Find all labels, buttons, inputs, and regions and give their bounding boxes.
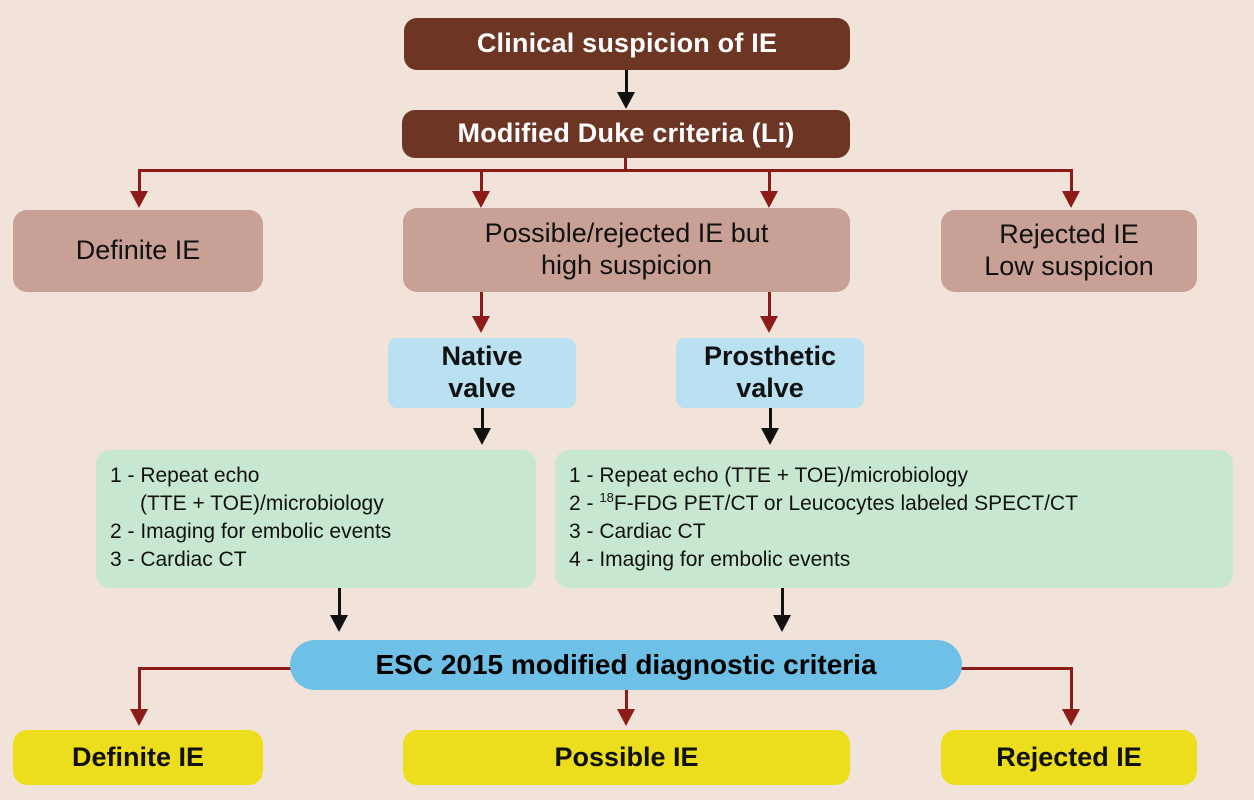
native-workup-line-2-text: (TTE + TOE)/microbiology bbox=[140, 492, 384, 515]
prosthetic-workup-line-2-text: F-FDG PET/CT or Leucocytes labeled SPECT… bbox=[614, 492, 1078, 515]
node-rejected-ie-bottom[interactable]: Rejected IE bbox=[941, 730, 1197, 785]
connector-esc-to-definite-h bbox=[138, 667, 292, 670]
node-definite-ie-bottom[interactable]: Definite IE bbox=[13, 730, 263, 785]
arrowhead-duke-to-possible bbox=[472, 191, 490, 208]
node-clinical-suspicion-label: Clinical suspicion of IE bbox=[477, 28, 777, 60]
node-definite-ie-bottom-label: Definite IE bbox=[72, 742, 204, 774]
connector-possible-to-native bbox=[480, 292, 483, 319]
native-workup-line-4: 3 - Cardiac CT bbox=[110, 546, 536, 574]
connector-duke-bus bbox=[138, 169, 1072, 172]
arrowhead-native-to-workup bbox=[473, 428, 491, 445]
panel-prosthetic-valve-workup[interactable]: 1 - Repeat echo (TTE + TOE)/microbiology… bbox=[555, 450, 1233, 588]
arrowhead-native-workup-to-esc bbox=[330, 615, 348, 632]
node-prosthetic-valve-line2: valve bbox=[736, 373, 804, 405]
connector-esc-to-definite-v bbox=[138, 667, 141, 711]
prosthetic-workup-line-4: 4 - Imaging for embolic events bbox=[569, 546, 1233, 574]
node-rejected-ie-line2: Low suspicion bbox=[984, 251, 1154, 283]
prosthetic-workup-line-1: 1 - Repeat echo (TTE + TOE)/microbiology bbox=[569, 462, 1233, 490]
native-workup-line-3: 2 - Imaging for embolic events bbox=[110, 518, 536, 546]
node-possible-rejected-line2-text: high suspicion bbox=[541, 250, 712, 282]
native-workup-line-1: 1 - Repeat echo bbox=[110, 462, 536, 490]
node-duke-criteria[interactable]: Modified Duke criteria (Li) bbox=[402, 110, 850, 158]
prosthetic-workup-line-2-superscript: 18 bbox=[599, 490, 613, 505]
arrowhead-duke-to-definite bbox=[130, 191, 148, 208]
arrowhead-duke-to-rejected bbox=[1062, 191, 1080, 208]
node-duke-criteria-label: Modified Duke criteria (Li) bbox=[458, 118, 795, 150]
node-esc-criteria[interactable]: ESC 2015 modified diagnostic criteria bbox=[290, 640, 962, 690]
node-possible-rejected-line1-text: Possible/rejected IE but bbox=[485, 218, 769, 250]
arrowhead-possible-to-prosthetic bbox=[760, 316, 778, 333]
node-definite-ie-top-label: Definite IE bbox=[76, 235, 201, 267]
arrowhead-duke-to-possible-right bbox=[760, 191, 778, 208]
connector-esc-to-rejected-h bbox=[960, 667, 1073, 670]
connector-esc-to-rejected-v bbox=[1070, 667, 1073, 711]
arrowhead-suspicion-to-duke bbox=[617, 92, 635, 109]
prosthetic-workup-line-2: 2 - 18F-FDG PET/CT or Leucocytes labeled… bbox=[569, 490, 1233, 518]
node-esc-criteria-label: ESC 2015 modified diagnostic criteria bbox=[375, 648, 876, 681]
node-possible-rejected-high-suspicion[interactable]: Possible/rejected IE but high suspicion bbox=[403, 208, 850, 292]
native-workup-line-2: (TTE + TOE)/microbiology bbox=[110, 490, 536, 518]
node-rejected-ie-low-suspicion[interactable]: Rejected IE Low suspicion bbox=[941, 210, 1197, 292]
panel-native-valve-workup[interactable]: 1 - Repeat echo (TTE + TOE)/microbiology… bbox=[96, 450, 536, 588]
connector-possible-to-prosthetic bbox=[768, 292, 771, 319]
connector-prosthetic-workup-to-esc bbox=[781, 588, 784, 618]
arrowhead-esc-to-possible bbox=[617, 709, 635, 726]
node-prosthetic-valve-line1: Prosthetic bbox=[704, 341, 836, 373]
node-definite-ie-top[interactable]: Definite IE bbox=[13, 210, 263, 292]
node-clinical-suspicion[interactable]: Clinical suspicion of IE bbox=[404, 18, 850, 70]
arrowhead-esc-to-rejected bbox=[1062, 709, 1080, 726]
node-possible-ie-bottom-label: Possible IE bbox=[554, 742, 698, 774]
node-native-valve[interactable]: Native valve bbox=[388, 338, 576, 408]
node-prosthetic-valve[interactable]: Prosthetic valve bbox=[676, 338, 864, 408]
arrowhead-possible-to-native bbox=[472, 316, 490, 333]
prosthetic-workup-line-3: 3 - Cardiac CT bbox=[569, 518, 1233, 546]
node-rejected-ie-line1: Rejected IE bbox=[999, 219, 1139, 251]
flowchart-canvas: Clinical suspicion of IE Modified Duke c… bbox=[0, 0, 1254, 800]
connector-native-workup-to-esc bbox=[338, 588, 341, 618]
arrowhead-prosthetic-workup-to-esc bbox=[773, 615, 791, 632]
prosthetic-workup-line-2-prefix: 2 - bbox=[569, 492, 599, 515]
arrowhead-prosthetic-to-workup bbox=[761, 428, 779, 445]
node-native-valve-line1: Native bbox=[441, 341, 522, 373]
node-rejected-ie-bottom-label: Rejected IE bbox=[996, 742, 1142, 774]
node-possible-ie-bottom[interactable]: Possible IE bbox=[403, 730, 850, 785]
node-native-valve-line2: valve bbox=[448, 373, 516, 405]
arrowhead-esc-to-definite bbox=[130, 709, 148, 726]
